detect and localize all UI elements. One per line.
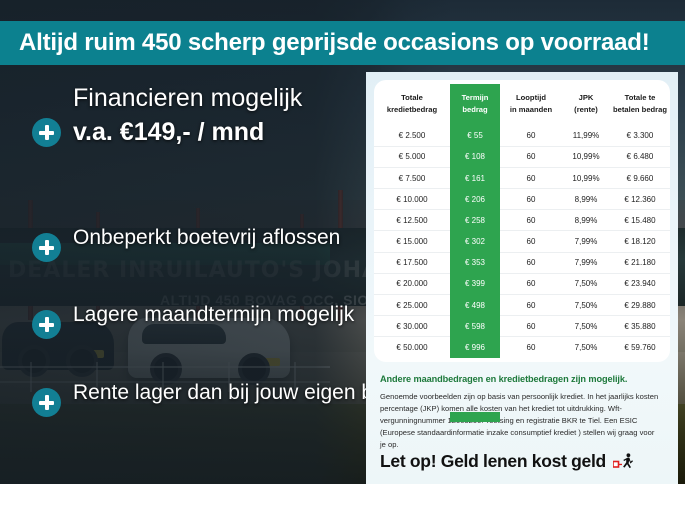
table-cell: 7,50%: [562, 273, 610, 294]
table-cell: € 50.000: [374, 337, 450, 358]
benefit-line-1: Financieren mogelijk: [73, 82, 302, 114]
table-row: € 2.500€ 556011,99%€ 3.300: [374, 125, 670, 146]
table-row: € 30.000€ 598607,50%€ 35.880: [374, 316, 670, 337]
table-cell: € 7.500: [374, 167, 450, 188]
table-row: € 17.500€ 353607,99%€ 21.180: [374, 252, 670, 273]
table-cell: € 399: [450, 273, 500, 294]
plus-icon: [32, 118, 61, 147]
table-cell: € 598: [450, 316, 500, 337]
table-cell: € 996: [450, 337, 500, 358]
table-cell: € 18.120: [610, 231, 670, 252]
column-header-total-credit: Totale kredietbedrag: [374, 85, 450, 126]
table-cell: € 30.000: [374, 316, 450, 337]
table-cell: € 258: [450, 210, 500, 231]
headline-banner: Altijd ruim 450 scherp geprijsde occasio…: [0, 21, 685, 65]
table-cell: € 15.480: [610, 210, 670, 231]
table-cell: 60: [500, 210, 562, 231]
financing-rates-table: Totale kredietbedrag Termijn bedrag Loop…: [374, 84, 670, 358]
legal-body-text: Genoemde voorbeelden zijn op basis van p…: [380, 391, 662, 451]
table-cell: 10,99%: [562, 167, 610, 188]
table-row: € 20.000€ 399607,50%€ 23.940: [374, 273, 670, 294]
table-row: € 10.000€ 206608,99%€ 12.360: [374, 189, 670, 210]
table-cell: € 12.360: [610, 189, 670, 210]
table-cell: € 206: [450, 189, 500, 210]
credit-warning-text: Let op! Geld lenen kost geld: [380, 451, 606, 472]
table-row: € 25.000€ 498607,50%€ 29.880: [374, 295, 670, 316]
benefit-item-lower-monthly-term: Lagere maandtermijn mogelijk: [32, 302, 354, 339]
table-cell: € 12.500: [374, 210, 450, 231]
benefit-item-financing: Financieren mogelijk v.a. €149,- / mnd: [32, 82, 302, 148]
table-row: € 50.000€ 996607,50%€ 59.760: [374, 337, 670, 358]
table-cell: 60: [500, 167, 562, 188]
table-cell: 60: [500, 295, 562, 316]
table-cell: 7,50%: [562, 316, 610, 337]
benefit-item-lower-interest: Rente lager dan bij jouw eigen bank: [32, 380, 407, 417]
benefit-text: Financieren mogelijk v.a. €149,- / mnd: [73, 82, 302, 148]
table-cell: 60: [500, 316, 562, 337]
table-cell: 8,99%: [562, 189, 610, 210]
table-cell: € 55: [450, 125, 500, 146]
table-cell: € 161: [450, 167, 500, 188]
table-cell: 60: [500, 189, 562, 210]
table-cell: € 35.880: [610, 316, 670, 337]
table-cell: € 108: [450, 146, 500, 167]
table-cell: € 20.000: [374, 273, 450, 294]
plus-icon: [32, 388, 61, 417]
legal-disclaimer: Andere maandbedragen en kredietbedragen …: [380, 374, 662, 451]
table-header-row: Totale kredietbedrag Termijn bedrag Loop…: [374, 85, 670, 126]
table-row: € 15.000€ 302607,99%€ 18.120: [374, 231, 670, 252]
table-cell: 11,99%: [562, 125, 610, 146]
table-cell: 7,99%: [562, 231, 610, 252]
column-header-jpk: JPK (rente): [562, 85, 610, 126]
legal-heading: Andere maandbedragen en kredietbedragen …: [380, 374, 662, 384]
table-cell: € 3.300: [610, 125, 670, 146]
table-cell: € 21.180: [610, 252, 670, 273]
table-cell: 60: [500, 125, 562, 146]
table-cell: € 2.500: [374, 125, 450, 146]
plus-icon: [32, 233, 61, 262]
table-cell: 7,99%: [562, 252, 610, 273]
highlight-column-overhang: [450, 412, 500, 422]
table-cell: 60: [500, 337, 562, 358]
table-row: € 12.500€ 258608,99%€ 15.480: [374, 210, 670, 231]
advertisement-banner: DEALER INRUILAUTO'S JOHAN MEURE ALTIJD 4…: [0, 0, 685, 484]
table-cell: € 17.500: [374, 252, 450, 273]
table-cell: € 6.480: [610, 146, 670, 167]
benefit-text: Rente lager dan bij jouw eigen bank: [73, 380, 407, 407]
financing-info-card: Totale kredietbedrag Termijn bedrag Loop…: [366, 72, 678, 484]
benefit-text: Onbeperkt boetevrij aflossen: [73, 225, 340, 252]
table-cell: € 10.000: [374, 189, 450, 210]
table-cell: 10,99%: [562, 146, 610, 167]
credit-warning: Let op! Geld lenen kost geld: [380, 451, 633, 472]
benefit-text: Lagere maandtermijn mogelijk: [73, 302, 354, 329]
table-cell: € 25.000: [374, 295, 450, 316]
table-cell: € 23.940: [610, 273, 670, 294]
table-cell: € 59.760: [610, 337, 670, 358]
table-cell: € 29.880: [610, 295, 670, 316]
column-header-duration: Looptijd in maanden: [500, 85, 562, 126]
table-cell: € 302: [450, 231, 500, 252]
rates-table-body: € 2.500€ 556011,99%€ 3.300€ 5.000€ 10860…: [374, 125, 670, 358]
headline-text: Altijd ruim 450 scherp geprijsde occasio…: [0, 29, 650, 57]
table-cell: 7,50%: [562, 295, 610, 316]
rates-table-panel: Totale kredietbedrag Termijn bedrag Loop…: [374, 80, 670, 362]
table-cell: 60: [500, 231, 562, 252]
table-cell: 60: [500, 146, 562, 167]
column-header-total-payable: Totale te betalen bedrag: [610, 85, 670, 126]
table-cell: 60: [500, 252, 562, 273]
table-row: € 5.000€ 1086010,99%€ 6.480: [374, 146, 670, 167]
table-cell: 60: [500, 273, 562, 294]
table-cell: € 498: [450, 295, 500, 316]
table-cell: 7,50%: [562, 337, 610, 358]
table-cell: € 5.000: [374, 146, 450, 167]
plus-icon: [32, 310, 61, 339]
column-header-term-amount: Termijn bedrag: [450, 85, 500, 126]
benefit-line-2: v.a. €149,- / mnd: [73, 116, 302, 148]
table-cell: € 353: [450, 252, 500, 273]
table-row: € 7.500€ 1616010,99%€ 9.660: [374, 167, 670, 188]
benefit-item-penalty-free-repayment: Onbeperkt boetevrij aflossen: [32, 225, 340, 262]
table-cell: € 9.660: [610, 167, 670, 188]
walking-person-warning-icon: [613, 453, 633, 471]
page-bottom-whitespace: [0, 484, 685, 513]
table-cell: € 15.000: [374, 231, 450, 252]
table-cell: 8,99%: [562, 210, 610, 231]
